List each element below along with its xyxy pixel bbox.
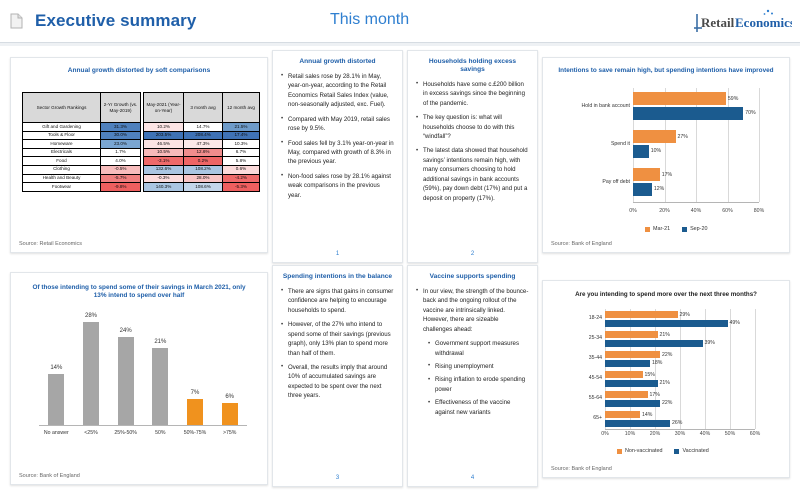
bar-value-label: 21%: [660, 332, 670, 338]
chart-bar: [187, 399, 203, 425]
table-cell-value: 10.3%: [223, 140, 260, 149]
table-cell-value: 46.5%: [144, 140, 184, 149]
table-cell-sector: Homeware: [23, 140, 101, 149]
list-item: Food sales fell by 3.1% year-on-year in …: [281, 139, 394, 167]
x-axis-tick-label: 40%: [698, 431, 712, 437]
x-axis-tick-label: 50%: [723, 431, 737, 437]
x-axis-line: [633, 202, 759, 203]
panel-page-number: 4: [408, 475, 537, 481]
y-axis-category-label: Spend it: [547, 141, 630, 147]
chart-bar: [605, 360, 650, 367]
bar-value-label: 17%: [662, 172, 672, 178]
col-header-2yr: 2-Yr Growth (vs. May-2019): [101, 93, 141, 123]
sector-growth-table-card: Annual growth distorted by soft comparis…: [10, 57, 268, 253]
table-cell-sector: Electricals: [23, 148, 101, 157]
x-axis-tick-label: 40%: [689, 208, 703, 214]
bar-value-label: 21%: [143, 339, 177, 345]
table-cell-value: 108.6%: [184, 183, 223, 192]
list-item: The key question is: what will household…: [416, 113, 529, 141]
table-row: Footwear-9.8%140.3%108.6%-5.3%: [23, 183, 260, 192]
bar-value-label: 7%: [178, 390, 212, 396]
chart-gridline: [680, 309, 681, 429]
retail-economics-logo: Retail Economics: [694, 8, 792, 34]
slide-page: Executive summary This month Retail Econ…: [0, 0, 800, 496]
table-cell-value: 17.4%: [223, 131, 260, 140]
list-item: Rising unemployment: [428, 362, 529, 371]
page-header: Executive summary This month Retail Econ…: [0, 0, 800, 42]
chart-bar: [118, 337, 134, 425]
col-header-12m: 12 month avg: [223, 93, 260, 123]
table-cell-sector: Food: [23, 157, 101, 166]
chart-bar: [605, 311, 678, 318]
x-axis-tick-label: 10%: [623, 431, 637, 437]
table-cell-value: 132.6%: [144, 165, 184, 174]
table-cell-sector: Gift and Gardening: [23, 123, 101, 132]
table-cell-value: 31.3%: [101, 123, 141, 132]
bar-value-label: 49%: [730, 320, 740, 326]
sector-growth-table: Sector Growth Rankings 2-Yr Growth (vs. …: [22, 92, 257, 192]
savings-spend-share-chart-title: Of those intending to spend some of thei…: [29, 284, 249, 300]
col-header-yoy: May-2021 (Year-on-Year): [144, 93, 184, 123]
table-cell-value: 10.5%: [144, 148, 184, 157]
list-item: In our view, the strength of the bounce-…: [416, 287, 529, 334]
legend-item: Sep-20: [682, 226, 707, 232]
table-cell-value: -5.7%: [101, 174, 141, 183]
list-item: Effectiveness of the vaccine against new…: [428, 398, 529, 417]
chart-bar: [605, 371, 643, 378]
panel-sub-bullet-list: Government support measures withdrawal R…: [428, 339, 529, 417]
x-axis-tick-label: 20%: [648, 431, 662, 437]
panel-heading: Households holding excess savings: [416, 58, 529, 74]
table-row: Food4.0%-3.1%0.2%5.8%: [23, 157, 260, 166]
y-axis-category-label: 18-24: [547, 315, 602, 321]
list-item: However, of the 27% who intend to spend …: [281, 320, 394, 358]
table-cell-value: 14.7%: [184, 123, 223, 132]
legend-swatch: [645, 227, 650, 232]
bar-value-label: 17%: [650, 392, 660, 398]
legend-swatch: [617, 449, 622, 454]
savings-spend-share-plot: 14%No answer28%<25%24%25%-50%21%50%7%50%…: [11, 309, 269, 469]
table-cell-value: 12.6%: [184, 148, 223, 157]
table-cell-value: 30.0%: [101, 131, 141, 140]
chart-bar: [633, 130, 676, 143]
legend-swatch: [682, 227, 687, 232]
chart-bar: [152, 348, 168, 425]
chart-bar: [605, 411, 640, 418]
panel-heading: Vaccine supports spending: [416, 273, 529, 281]
x-axis-tick-label: 80%: [752, 208, 766, 214]
legend-label: Mar-21: [653, 226, 670, 232]
x-axis-line: [605, 429, 755, 430]
bar-value-label: 15%: [645, 372, 655, 378]
legend-label: Sep-20: [690, 226, 707, 232]
bar-value-label: 22%: [662, 400, 672, 406]
panel-bullet-list: There are signs that gains in consumer c…: [281, 287, 394, 401]
bar-value-label: 14%: [642, 412, 652, 418]
table-source: Source: Retail Economics: [19, 241, 82, 247]
y-axis-category-label: Pay off debt: [547, 179, 630, 185]
spend-more-by-age-plot: 0%10%20%30%40%50%60%18-2429%49%25-3421%3…: [543, 303, 791, 458]
bar-value-label: 59%: [728, 96, 738, 102]
chart-gridline: [665, 88, 666, 202]
chart-bar: [633, 145, 649, 158]
table-cell-value: 0.2%: [184, 157, 223, 166]
chart-bar: [605, 400, 660, 407]
panel-households-holding-excess-savings: Households holding excess savings Househ…: [407, 50, 538, 263]
list-item: Retail sales rose by 28.1% in May, year-…: [281, 72, 394, 110]
list-item: Rising inflation to erode spending power: [428, 375, 529, 394]
svg-text:Economics: Economics: [735, 15, 792, 30]
table-cell-value: -0.5%: [101, 165, 141, 174]
chart-bar: [48, 374, 64, 425]
savings-intentions-chart-title: Intentions to save remain high, but spen…: [551, 67, 781, 75]
panel-heading: Spending intentions in the balance: [281, 273, 394, 281]
x-axis-line: [39, 425, 247, 426]
panel-vaccine-supports-spending: Vaccine supports spending In our view, t…: [407, 265, 538, 487]
bar-value-label: 70%: [745, 110, 755, 116]
page-title: Executive summary: [35, 11, 196, 31]
sector-growth-table-title: Annual growth distorted by soft comparis…: [11, 67, 267, 75]
chart-bar: [633, 183, 652, 196]
panel-page-number: 1: [273, 251, 402, 257]
bar-value-label: 14%: [39, 365, 73, 371]
chart-bar: [605, 380, 658, 387]
savings-intentions-plot: 0%20%40%60%80%Hold in bank account59%70%…: [543, 80, 791, 230]
x-axis-category-label: >75%: [208, 430, 252, 436]
list-item: Non-food sales rose by 28.1% against wea…: [281, 172, 394, 200]
table-cell-value: 23.0%: [101, 140, 141, 149]
bar-value-label: 22%: [662, 352, 672, 358]
x-axis-tick-label: 0%: [626, 208, 640, 214]
y-axis-category-label: 35-44: [547, 355, 602, 361]
chart-bar: [222, 403, 238, 425]
chart-gridline: [705, 309, 706, 429]
bar-value-label: 27%: [678, 134, 688, 140]
list-item: Government support measures withdrawal: [428, 339, 529, 358]
list-item: The latest data showed that household sa…: [416, 146, 529, 203]
chart-gridline: [728, 88, 729, 202]
table-cell-value: 47.3%: [184, 140, 223, 149]
table-row: Gift and Gardening31.3%10.2%14.7%21.5%: [23, 123, 260, 132]
table-header-row: Sector Growth Rankings 2-Yr Growth (vs. …: [23, 93, 260, 123]
bar-value-label: 18%: [652, 360, 662, 366]
svg-text:Retail: Retail: [701, 15, 735, 30]
legend-item: Mar-21: [645, 226, 670, 232]
x-axis-tick-label: 30%: [673, 431, 687, 437]
list-item: Overall, the results imply that around 1…: [281, 363, 394, 401]
table-cell-sector: Tools & Floor: [23, 131, 101, 140]
col-header-3m: 3 month avg: [184, 93, 223, 123]
table-row: Electricals1.7%10.5%12.6%6.7%: [23, 148, 260, 157]
chart-bar: [605, 331, 658, 338]
chart-bar: [605, 420, 670, 427]
bar-value-label: 28%: [74, 313, 108, 319]
table-cell-value: 6.7%: [223, 148, 260, 157]
legend-item: Vaccinated: [674, 448, 708, 454]
panel-spending-intentions-in-the-balance: Spending intentions in the balance There…: [272, 265, 403, 487]
table-cell-value: 203.5%: [144, 131, 184, 140]
table-row: Tools & Floor30.0%203.5%208.4%17.4%: [23, 131, 260, 140]
table-cell-value: -3.1%: [144, 157, 184, 166]
y-axis-category-label: 25-34: [547, 335, 602, 341]
table-cell-value: 28.0%: [184, 174, 223, 183]
x-axis-tick-label: 0%: [598, 431, 612, 437]
legend-item: Non-vaccinated: [617, 448, 662, 454]
chart-bar: [83, 322, 99, 425]
chart-bar: [605, 320, 728, 327]
table-row: Health and Beauty-5.7%-0.3%28.0%-4.2%: [23, 174, 260, 183]
table-row: Clothing-0.5%132.6%108.2%0.6%: [23, 165, 260, 174]
header-divider: [0, 42, 800, 46]
legend-swatch: [674, 449, 679, 454]
chart-bar: [633, 92, 726, 105]
table-cell-sector: Clothing: [23, 165, 101, 174]
chart-bar: [605, 340, 703, 347]
table-cell-value: 10.2%: [144, 123, 184, 132]
chart-source: Source: Bank of England: [19, 473, 80, 479]
table-cell-value: 5.8%: [223, 157, 260, 166]
panel-heading: Annual growth distorted: [281, 58, 394, 66]
y-axis-category-label: 55-64: [547, 395, 602, 401]
legend-label: Non-vaccinated: [625, 448, 662, 454]
bar-value-label: 26%: [672, 420, 682, 426]
document-icon: [10, 13, 23, 29]
bar-value-label: 21%: [660, 380, 670, 386]
savings-intentions-chart-card: Intentions to save remain high, but spen…: [542, 57, 790, 253]
chart-bar: [633, 107, 743, 120]
chart-bar: [605, 391, 648, 398]
y-axis-category-label: 65+: [547, 415, 602, 421]
chart-gridline: [755, 309, 756, 429]
table-cell-value: 1.7%: [101, 148, 141, 157]
col-header-sector: Sector Growth Rankings: [23, 93, 101, 123]
chart-source: Source: Bank of England: [551, 466, 612, 472]
table-cell-value: -9.8%: [101, 183, 141, 192]
y-axis-category-label: Hold in bank account: [547, 103, 630, 109]
table-cell-value: -5.3%: [223, 183, 260, 192]
list-item: There are signs that gains in consumer c…: [281, 287, 394, 315]
list-item: Compared with May 2019, retail sales ros…: [281, 115, 394, 134]
list-item: Households have some c.£200 billion in e…: [416, 80, 529, 108]
x-axis-tick-label: 60%: [721, 208, 735, 214]
table-cell-value: 4.0%: [101, 157, 141, 166]
table-cell-value: -4.2%: [223, 174, 260, 183]
panel-bullet-list: Households have some c.£200 billion in e…: [416, 80, 529, 203]
chart-gridline: [730, 309, 731, 429]
spend-more-by-age-chart-card: Are you intending to spend more over the…: [542, 280, 790, 478]
table-row: Homeware23.0%46.5%47.3%10.3%: [23, 140, 260, 149]
chart-gridline: [696, 88, 697, 202]
panel-annual-growth-distorted: Annual growth distorted Retail sales ros…: [272, 50, 403, 263]
chart-bar: [633, 168, 660, 181]
chart-legend: Non-vaccinatedVaccinated: [617, 448, 709, 454]
panel-bullet-list: In our view, the strength of the bounce-…: [416, 287, 529, 334]
table-cell-value: 108.2%: [184, 165, 223, 174]
x-axis-tick-label: 20%: [658, 208, 672, 214]
chart-legend: Mar-21Sep-20: [645, 226, 707, 232]
chart-gridline: [655, 309, 656, 429]
table-cell-sector: Footwear: [23, 183, 101, 192]
spend-more-by-age-chart-title: Are you intending to spend more over the…: [551, 291, 781, 299]
bar-value-label: 6%: [213, 394, 247, 400]
table-cell-value: 208.4%: [184, 131, 223, 140]
bar-value-label: 29%: [680, 312, 690, 318]
table-cell-value: 21.5%: [223, 123, 260, 132]
legend-label: Vaccinated: [682, 448, 708, 454]
panel-bullet-list: Retail sales rose by 28.1% in May, year-…: [281, 72, 394, 200]
table-cell-value: 140.3%: [144, 183, 184, 192]
table-cell-sector: Health and Beauty: [23, 174, 101, 183]
bar-value-label: 24%: [109, 328, 143, 334]
bar-value-label: 39%: [705, 340, 715, 346]
y-axis-category-label: 45-54: [547, 375, 602, 381]
chart-bar: [605, 351, 660, 358]
table-cell-value: 0.6%: [223, 165, 260, 174]
page-subtitle: This month: [330, 11, 409, 29]
savings-spend-share-chart-card: Of those intending to spend some of thei…: [10, 272, 268, 485]
x-axis-tick-label: 60%: [748, 431, 762, 437]
bar-value-label: 10%: [651, 148, 661, 154]
panel-page-number: 3: [273, 475, 402, 481]
chart-source: Source: Bank of England: [551, 241, 612, 247]
panel-page-number: 2: [408, 251, 537, 257]
bar-value-label: 12%: [654, 186, 664, 192]
table-cell-value: -0.3%: [144, 174, 184, 183]
chart-gridline: [759, 88, 760, 202]
